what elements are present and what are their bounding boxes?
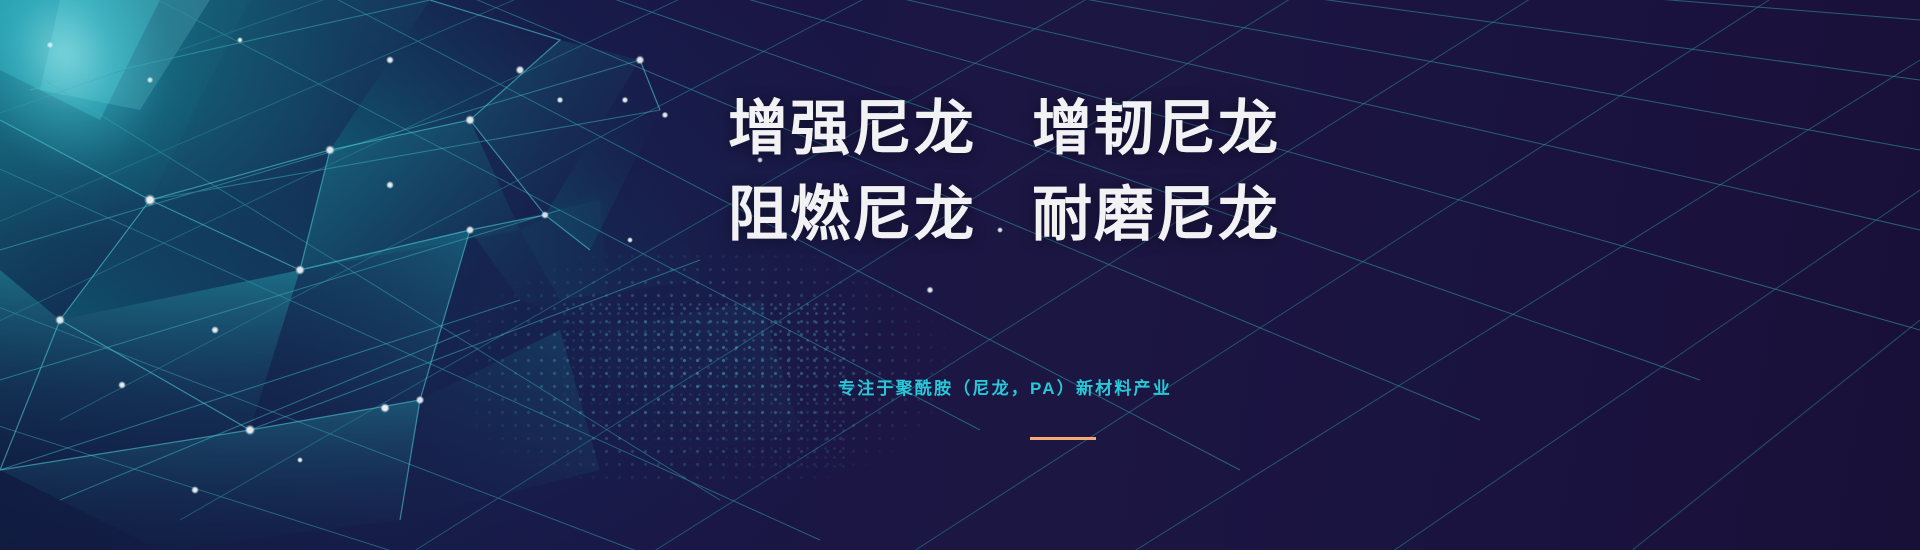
tagline-wrap: 专注于聚酰胺（尼龙，PA）新材料产业 [0, 0, 1920, 550]
hero-banner: 增强尼龙 增韧尼龙 阻燃尼龙 耐磨尼龙 专注于聚酰胺（尼龙，PA）新材料产业 [0, 0, 1920, 550]
tagline: 专注于聚酰胺（尼龙，PA）新材料产业 [838, 374, 1172, 399]
